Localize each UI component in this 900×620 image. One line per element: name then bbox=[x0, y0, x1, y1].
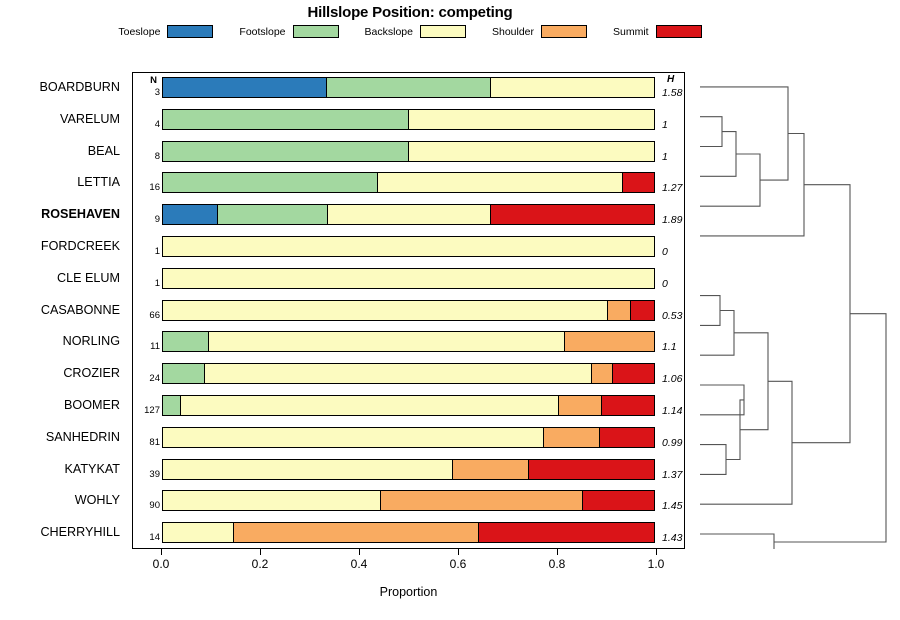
row-h-value: 1.37 bbox=[662, 469, 682, 481]
legend-item-label: Toeslope bbox=[118, 26, 160, 38]
dendrogram-svg bbox=[700, 72, 895, 549]
bar-segment-footslope bbox=[163, 396, 181, 415]
row-label: CLE ELUM bbox=[57, 271, 120, 285]
bar-row bbox=[162, 200, 655, 230]
row-h-value: 1.43 bbox=[662, 532, 682, 544]
bar-segment-summit bbox=[479, 523, 654, 542]
x-axis-tick-label: 0.6 bbox=[450, 557, 467, 571]
row-h-value: 1 bbox=[662, 151, 668, 163]
legend-swatch bbox=[656, 25, 702, 38]
legend-item-label: Footslope bbox=[239, 26, 285, 38]
bar-row bbox=[162, 296, 655, 326]
row-label: CASABONNE bbox=[41, 303, 120, 317]
stacked-bar bbox=[162, 300, 655, 321]
legend-swatch bbox=[420, 25, 466, 38]
bar-segment-backslope bbox=[378, 173, 624, 192]
row-label: NORLING bbox=[63, 334, 120, 348]
row-h-value: 0 bbox=[662, 278, 668, 290]
bar-segment-backslope bbox=[163, 523, 234, 542]
bar-row bbox=[162, 168, 655, 198]
x-axis-tick-label: 0.2 bbox=[252, 557, 269, 571]
bar-segment-summit bbox=[491, 205, 654, 224]
stacked-bar bbox=[162, 363, 655, 384]
bar-segment-backslope bbox=[163, 237, 654, 256]
legend-item-label: Shoulder bbox=[492, 26, 534, 38]
page-title: Hillslope Position: competing bbox=[0, 4, 820, 21]
row-label-column: BOARDBURNVARELUMBEALLETTIAROSEHAVENFORDC… bbox=[0, 72, 126, 549]
bar-segment-summit bbox=[600, 428, 654, 447]
row-h-value: 1.58 bbox=[662, 87, 682, 99]
legend: ToeslopeFootslopeBackslopeShoulderSummit bbox=[0, 25, 820, 38]
bar-row bbox=[162, 105, 655, 135]
x-axis-tick-label: 0.8 bbox=[549, 557, 566, 571]
bar-segment-backslope bbox=[163, 491, 381, 510]
x-axis-label: Proportion bbox=[132, 585, 685, 599]
bar-row bbox=[162, 423, 655, 453]
bar-row bbox=[162, 486, 655, 516]
row-label: SANHEDRIN bbox=[46, 430, 120, 444]
row-label: LETTIA bbox=[77, 175, 120, 189]
row-label: BEAL bbox=[88, 144, 120, 158]
bar-segment-shoulder bbox=[544, 428, 599, 447]
legend-item-label: Summit bbox=[613, 26, 649, 38]
bar-segment-footslope bbox=[327, 78, 491, 97]
row-label: BOOMER bbox=[64, 398, 120, 412]
bar-segment-backslope bbox=[491, 78, 654, 97]
bar-row bbox=[162, 455, 655, 485]
x-axis-tick bbox=[557, 549, 558, 555]
stacked-bar bbox=[162, 236, 655, 257]
bar-segment-backslope bbox=[163, 460, 453, 479]
stacked-bar bbox=[162, 522, 655, 543]
bar-segment-backslope bbox=[409, 110, 654, 129]
legend-item-label: Backslope bbox=[365, 26, 413, 38]
row-h-value: 0.99 bbox=[662, 437, 682, 449]
row-h-value: 1.06 bbox=[662, 373, 682, 385]
bar-row bbox=[162, 73, 655, 103]
bar-segment-footslope bbox=[218, 205, 327, 224]
x-axis-tick bbox=[260, 549, 261, 555]
bar-row bbox=[162, 264, 655, 294]
bar-segment-summit bbox=[583, 491, 654, 510]
row-h-value: 1.45 bbox=[662, 500, 682, 512]
legend-swatch bbox=[167, 25, 213, 38]
h-column-header: H bbox=[667, 74, 674, 85]
h-column: H1.58111.271.89000.531.11.061.140.991.37… bbox=[658, 72, 702, 549]
legend-swatch bbox=[541, 25, 587, 38]
row-h-value: 1 bbox=[662, 119, 668, 131]
row-label: KATYKAT bbox=[64, 462, 120, 476]
bar-row bbox=[162, 391, 655, 421]
bar-row bbox=[162, 137, 655, 167]
bar-row bbox=[162, 327, 655, 357]
stacked-bar bbox=[162, 459, 655, 480]
row-h-value: 0 bbox=[662, 246, 668, 258]
bar-segment-summit bbox=[613, 364, 654, 383]
bar-segment-footslope bbox=[163, 332, 209, 351]
row-label: WOHLY bbox=[75, 493, 120, 507]
bar-segment-backslope bbox=[163, 428, 544, 447]
bar-segment-backslope bbox=[205, 364, 592, 383]
bar-segment-summit bbox=[529, 460, 654, 479]
bar-segment-shoulder bbox=[381, 491, 583, 510]
bar-segment-backslope bbox=[328, 205, 492, 224]
row-h-value: 1.14 bbox=[662, 405, 682, 417]
row-h-value: 1.89 bbox=[662, 214, 682, 226]
x-axis-tick bbox=[359, 549, 360, 555]
bar-segment-footslope bbox=[163, 110, 409, 129]
bar-area bbox=[162, 73, 655, 548]
stacked-bar bbox=[162, 268, 655, 289]
stacked-bar bbox=[162, 490, 655, 511]
stacked-bar bbox=[162, 109, 655, 130]
stacked-bar bbox=[162, 427, 655, 448]
bar-segment-backslope bbox=[409, 142, 654, 161]
row-h-value: 1.27 bbox=[662, 182, 682, 194]
x-axis-tick bbox=[656, 549, 657, 555]
stacked-bar-plot bbox=[132, 72, 685, 549]
bar-segment-summit bbox=[602, 396, 654, 415]
dendrogram bbox=[700, 72, 895, 549]
bar-segment-backslope bbox=[163, 301, 608, 320]
bar-segment-summit bbox=[623, 173, 654, 192]
row-label: ROSEHAVEN bbox=[41, 207, 120, 221]
row-label: CHERRYHILL bbox=[40, 525, 120, 539]
legend-item-toeslope: Toeslope bbox=[118, 25, 213, 38]
row-label: CROZIER bbox=[63, 366, 120, 380]
x-axis-tick bbox=[161, 549, 162, 555]
bar-segment-footslope bbox=[163, 364, 205, 383]
bar-row bbox=[162, 359, 655, 389]
bar-segment-shoulder bbox=[565, 332, 654, 351]
row-h-value: 1.1 bbox=[662, 341, 677, 353]
x-axis-tick-label: 0.0 bbox=[153, 557, 170, 571]
row-h-value: 0.53 bbox=[662, 310, 682, 322]
stacked-bar bbox=[162, 141, 655, 162]
bar-segment-toeslope bbox=[163, 78, 327, 97]
row-label: VARELUM bbox=[60, 112, 120, 126]
stacked-bar bbox=[162, 331, 655, 352]
bar-segment-footslope bbox=[163, 173, 378, 192]
bar-segment-backslope bbox=[209, 332, 565, 351]
row-label: BOARDBURN bbox=[40, 80, 120, 94]
stacked-bar bbox=[162, 77, 655, 98]
x-axis-tick-label: 1.0 bbox=[648, 557, 665, 571]
stacked-bar bbox=[162, 395, 655, 416]
x-axis: 0.00.20.40.60.81.0 bbox=[161, 549, 656, 579]
legend-item-footslope: Footslope bbox=[239, 25, 338, 38]
bar-segment-backslope bbox=[181, 396, 559, 415]
bar-segment-shoulder bbox=[608, 301, 631, 320]
x-axis-tick bbox=[458, 549, 459, 555]
bar-segment-toeslope bbox=[163, 205, 218, 224]
x-axis-tick-label: 0.4 bbox=[351, 557, 368, 571]
legend-item-shoulder: Shoulder bbox=[492, 25, 587, 38]
bar-segment-footslope bbox=[163, 142, 409, 161]
bar-row bbox=[162, 518, 655, 548]
bar-segment-shoulder bbox=[592, 364, 614, 383]
stacked-bar bbox=[162, 172, 655, 193]
legend-item-backslope: Backslope bbox=[365, 25, 466, 38]
legend-swatch bbox=[293, 25, 339, 38]
bar-segment-backslope bbox=[163, 269, 654, 288]
bar-segment-shoulder bbox=[453, 460, 529, 479]
bar-segment-summit bbox=[631, 301, 654, 320]
bar-segment-shoulder bbox=[234, 523, 480, 542]
legend-item-summit: Summit bbox=[613, 25, 702, 38]
stacked-bar bbox=[162, 204, 655, 225]
bar-row bbox=[162, 232, 655, 262]
row-label: FORDCREEK bbox=[41, 239, 120, 253]
bar-segment-shoulder bbox=[559, 396, 602, 415]
